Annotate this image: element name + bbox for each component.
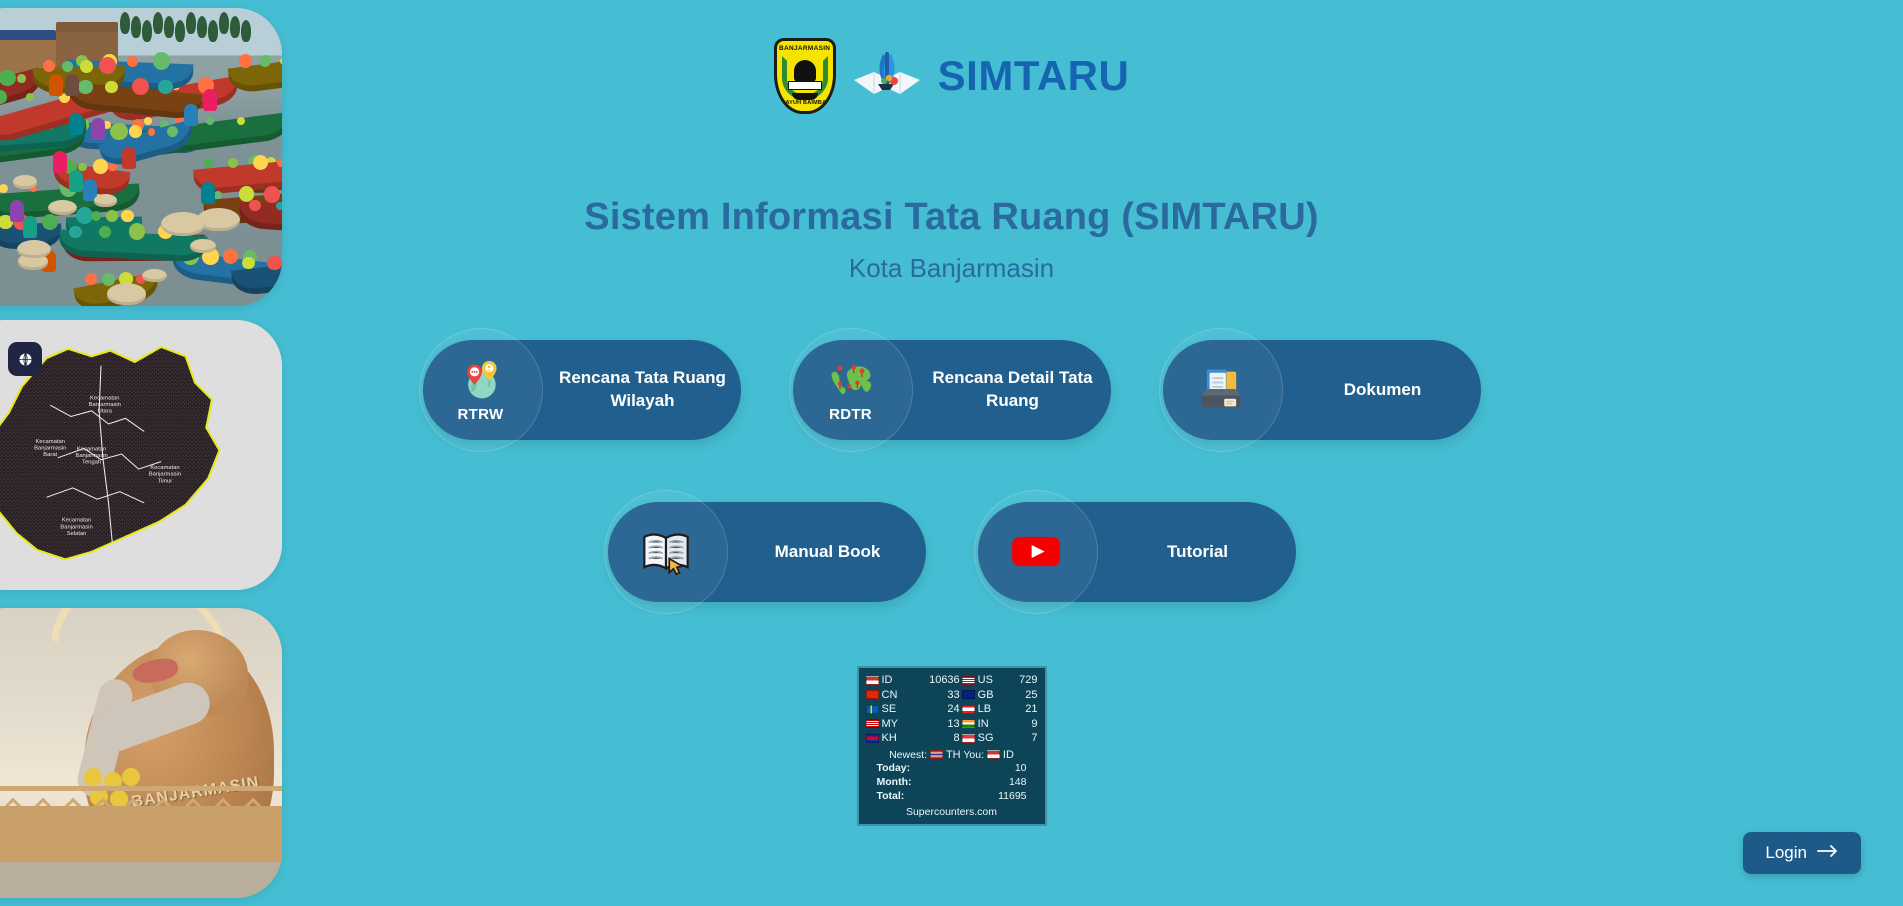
- counter-value-left: 33: [914, 688, 961, 703]
- rtrw-label: Rencana Tata Ruang Wilayah: [555, 367, 731, 413]
- counter-value-left: 8: [914, 731, 961, 746]
- globe-icon[interactable]: [8, 342, 42, 376]
- crest-bottom-text: KAYUH BAIMBAI: [777, 100, 833, 106]
- counter-country-right: GB: [961, 688, 1010, 703]
- tutorial-label: Tutorial: [1110, 541, 1286, 564]
- svg-text:Banjarmasin: Banjarmasin: [149, 472, 181, 478]
- counter-country-left: CN: [865, 688, 914, 703]
- flag-usa: [962, 676, 975, 685]
- counter-stat-row: Month:148: [865, 776, 1039, 790]
- page-title-block: Sistem Informasi Tata Ruang (SIMTARU) Ko…: [0, 196, 1903, 284]
- newest-label: Newest:: [889, 749, 927, 761]
- supercounters-widget[interactable]: ID10636US729CN33GB25SE24LB21MY13IN9KH8SG…: [857, 666, 1047, 826]
- flag-malaysia: [866, 719, 879, 728]
- counter-row: KH8SG7: [865, 731, 1039, 746]
- login-label: Login: [1765, 843, 1807, 863]
- flag-indonesia: [866, 676, 879, 685]
- counter-value-left: 24: [914, 702, 961, 717]
- login-button[interactable]: Login: [1743, 832, 1861, 874]
- you-label: You:: [963, 749, 984, 761]
- dokumen-icon-bubble: [1159, 328, 1283, 452]
- counter-value-right: 9: [1009, 717, 1038, 732]
- site-header: BANJARMASIN KAYUH BAIMBAI SIMTARU: [0, 38, 1903, 114]
- counter-row: MY13IN9: [865, 717, 1039, 732]
- arrow-right-icon: [1817, 843, 1839, 863]
- flag-lebanon: [962, 705, 975, 714]
- svg-text:Banjarmasin: Banjarmasin: [34, 445, 66, 451]
- page-subtitle: Kota Banjarmasin: [0, 253, 1903, 284]
- flag-india: [962, 719, 975, 728]
- menu-button-rtrw[interactable]: RTRW Rencana Tata Ruang Wilayah: [423, 340, 741, 440]
- counter-country-left: MY: [865, 717, 914, 732]
- menu-button-dokumen[interactable]: Dokumen: [1163, 340, 1481, 440]
- counter-stat-row: Total:11695: [865, 790, 1039, 804]
- counter-country-right: LB: [961, 702, 1010, 717]
- svg-text:Kecamatan: Kecamatan: [77, 446, 106, 452]
- newest-code: TH: [946, 749, 961, 761]
- flag-thailand: [930, 750, 943, 759]
- youtube-play-icon: [1009, 524, 1063, 578]
- flag-singapore: [962, 734, 975, 743]
- flag-uk: [962, 690, 975, 699]
- rdtr-label: Rencana Detail Tata Ruang: [925, 367, 1101, 413]
- banjarmasin-city-crest-icon: BANJARMASIN KAYUH BAIMBAI: [774, 38, 836, 114]
- counter-country-right: IN: [961, 717, 1010, 732]
- document-tray-icon: [1194, 362, 1248, 416]
- svg-text:Banjarmasin: Banjarmasin: [75, 453, 107, 459]
- counter-value-right: 729: [1009, 673, 1038, 688]
- page-title: Sistem Informasi Tata Ruang (SIMTARU): [0, 196, 1903, 239]
- counter-stat-value: 10: [1015, 762, 1027, 776]
- svg-text:Barat: Barat: [43, 452, 57, 458]
- counter-value-right: 7: [1009, 731, 1038, 746]
- flag-china: [866, 690, 879, 699]
- counter-stat-value: 148: [1009, 776, 1027, 790]
- counter-stat-label: Today:: [877, 762, 911, 776]
- manual-book-icon-bubble: [604, 490, 728, 614]
- open-book-cursor-icon: [639, 524, 693, 578]
- counter-row: CN33GB25: [865, 688, 1039, 703]
- counter-country-left: KH: [865, 731, 914, 746]
- flag-indonesia-you: [987, 750, 1000, 759]
- counter-newest-row: Newest: TH You: ID: [865, 748, 1039, 763]
- bekantan-statue-photo: BANJARMASIN: [0, 608, 282, 898]
- counter-value-left: 10636: [914, 673, 961, 688]
- counter-source: Supercounters.com: [865, 804, 1039, 820]
- counter-stats: Today:10Month:148Total:11695: [865, 762, 1039, 804]
- counter-stat-label: Total:: [877, 790, 905, 804]
- you-code: ID: [1003, 749, 1014, 761]
- tutorial-icon-bubble: [974, 490, 1098, 614]
- flag-sweden: [866, 705, 879, 714]
- counter-stat-row: Today:10: [865, 762, 1039, 776]
- menu-button-rdtr[interactable]: RDTR Rencana Detail Tata Ruang: [793, 340, 1111, 440]
- world-map-pins-icon: [828, 358, 874, 404]
- rtrw-abbr: RTRW: [458, 406, 504, 423]
- counter-stat-label: Month:: [877, 776, 912, 790]
- counter-stat-value: 11695: [998, 790, 1026, 804]
- rdtr-icon-bubble: RDTR: [789, 328, 913, 452]
- photo-rail: KecamatanBanjarmasinUtara KecamatanBanja…: [0, 0, 282, 906]
- dokumen-label: Dokumen: [1295, 379, 1471, 402]
- counter-country-left: SE: [865, 702, 914, 717]
- simtaru-map-book-logo-icon: [850, 44, 924, 108]
- brand-title: SIMTARU: [938, 52, 1130, 100]
- crest-top-text: BANJARMASIN: [777, 45, 833, 52]
- counter-value-right: 25: [1009, 688, 1038, 703]
- counter-value-right: 21: [1009, 702, 1038, 717]
- menu-button-tutorial[interactable]: Tutorial: [978, 502, 1296, 602]
- flag-cambodia: [866, 734, 879, 743]
- svg-text:Timur: Timur: [158, 478, 173, 484]
- counter-country-table: ID10636US729CN33GB25SE24LB21MY13IN9KH8SG…: [865, 673, 1039, 746]
- rtrw-icon-bubble: RTRW: [419, 328, 543, 452]
- svg-text:Tengah: Tengah: [82, 459, 101, 465]
- counter-row: ID10636US729: [865, 673, 1039, 688]
- counter-country-right: SG: [961, 731, 1010, 746]
- location-pins-globe-icon: [458, 358, 504, 404]
- counter-value-left: 13: [914, 717, 961, 732]
- counter-country-left: ID: [865, 673, 914, 688]
- rdtr-abbr: RDTR: [829, 406, 872, 423]
- menu-row-primary: RTRW Rencana Tata Ruang Wilayah: [0, 340, 1903, 440]
- manual-book-label: Manual Book: [740, 541, 916, 564]
- svg-text:Kecamatan: Kecamatan: [150, 465, 179, 471]
- menu-button-manual-book[interactable]: Manual Book: [608, 502, 926, 602]
- page-root: KecamatanBanjarmasinUtara KecamatanBanja…: [0, 0, 1903, 906]
- counter-row: SE24LB21: [865, 702, 1039, 717]
- counter-country-right: US: [961, 673, 1010, 688]
- menu-row-secondary: Manual Book Tutorial: [0, 502, 1903, 602]
